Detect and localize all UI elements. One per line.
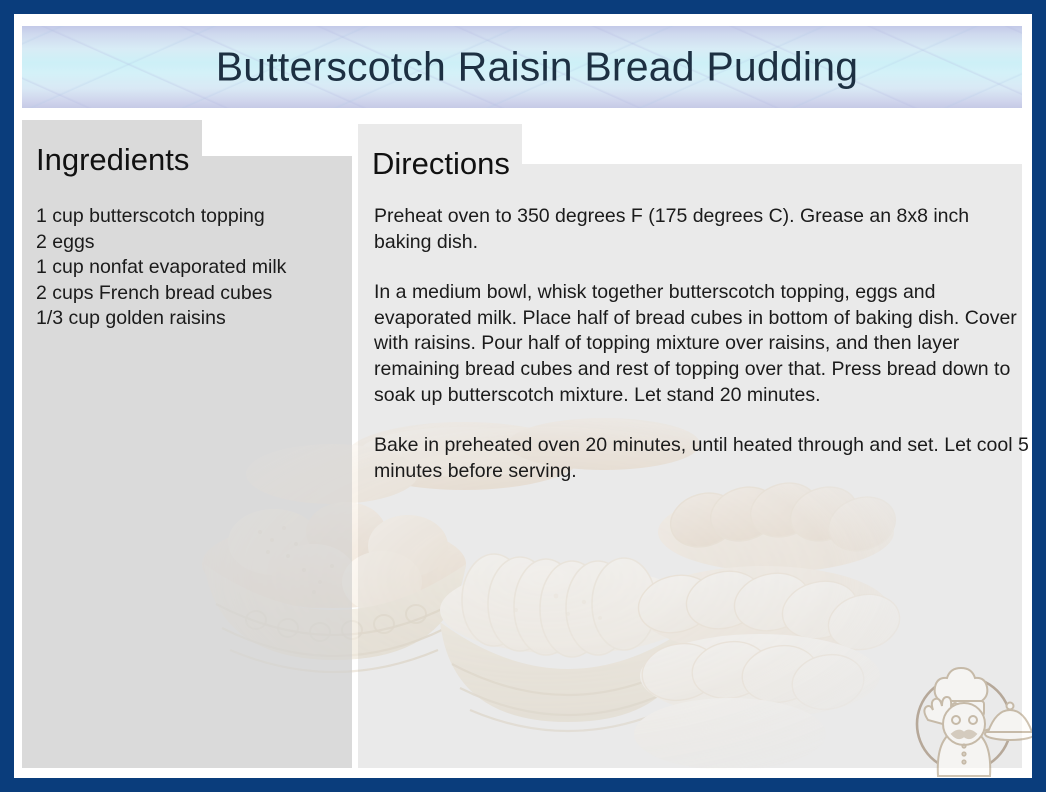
directions-text: Preheat oven to 350 degrees F (175 degre… (374, 204, 1029, 509)
title-banner: Butterscotch Raisin Bread Pudding (22, 26, 1022, 108)
directions-paragraph: Preheat oven to 350 degrees F (175 degre… (374, 204, 1029, 255)
recipe-card-frame: Butterscotch Raisin Bread Pudding (0, 0, 1046, 792)
list-item: 1 cup nonfat evaporated milk (36, 255, 346, 281)
list-item: 2 eggs (36, 230, 346, 256)
list-item: 1 cup butterscotch topping (36, 204, 346, 230)
list-item: 1/3 cup golden raisins (36, 306, 346, 332)
directions-heading: Directions (372, 146, 510, 182)
directions-paragraph: In a medium bowl, whisk together butters… (374, 280, 1029, 408)
ingredients-heading: Ingredients (36, 142, 189, 178)
list-item: 2 cups French bread cubes (36, 281, 346, 307)
ingredients-list: 1 cup butterscotch topping 2 eggs 1 cup … (36, 204, 346, 332)
directions-paragraph: Bake in preheated oven 20 minutes, until… (374, 433, 1029, 484)
recipe-card-page: Butterscotch Raisin Bread Pudding (14, 14, 1032, 778)
page-title: Butterscotch Raisin Bread Pudding (22, 44, 1022, 91)
